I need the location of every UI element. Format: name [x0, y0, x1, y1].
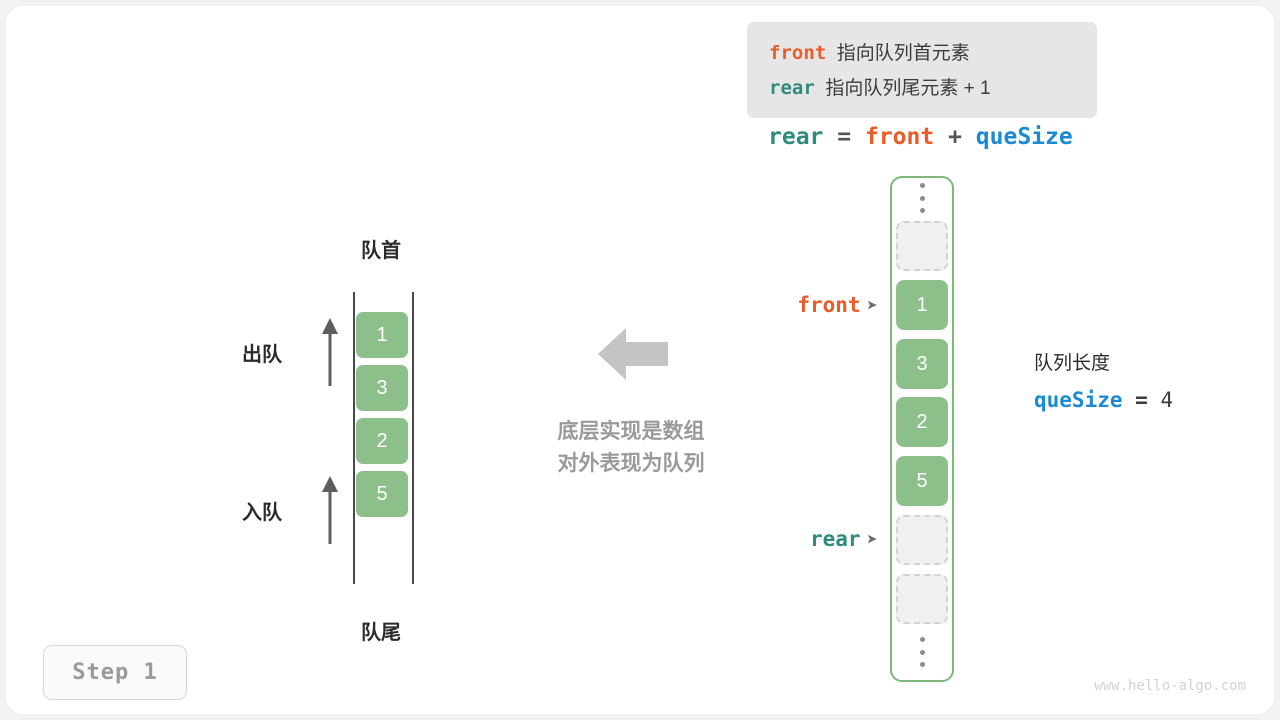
- formula-rear: rear: [768, 124, 823, 150]
- legend-rear-term: rear: [769, 77, 815, 99]
- queue-rail-right: [412, 292, 414, 584]
- page-background: front 指向队列首元素 rear 指向队列尾元素 + 1 rear = fr…: [0, 0, 1280, 720]
- array-slot-filled: 2: [896, 397, 948, 447]
- queue-cell: 1: [356, 312, 408, 358]
- legend-front-term: front: [769, 42, 826, 64]
- queue-cell: 3: [356, 365, 408, 411]
- legend-line-rear: rear 指向队列尾元素 + 1: [769, 71, 1097, 106]
- center-caption-line1: 底层实现是数组: [506, 416, 756, 448]
- array-slot-empty: [896, 221, 948, 271]
- pointer-legend-box: front 指向队列首元素 rear 指向队列尾元素 + 1: [747, 22, 1097, 118]
- rear-pointer: rear➤: [758, 527, 878, 551]
- enqueue-label: 入队: [202, 496, 282, 525]
- vertical-ellipsis-icon: [896, 637, 948, 667]
- vertical-ellipsis-icon: [896, 183, 948, 213]
- queue-size-equals: =: [1135, 388, 1148, 412]
- rear-formula: rear = front + queSize: [768, 124, 1098, 150]
- left-arrow-icon: [598, 326, 668, 382]
- rear-pointer-label: rear: [810, 527, 861, 551]
- formula-front: front: [865, 124, 934, 150]
- legend-line-front: front 指向队列首元素: [769, 36, 1097, 71]
- queue-size-info: 队列长度 queSize = 4: [1034, 346, 1264, 418]
- queue-head-label: 队首: [306, 234, 456, 263]
- step-badge: Step 1: [43, 645, 187, 700]
- array-slot-empty: [896, 515, 948, 565]
- legend-front-text: 指向队列首元素: [837, 43, 970, 64]
- queue-size-title: 队列长度: [1034, 346, 1264, 382]
- front-pointer-tip-icon: ➤: [867, 295, 878, 317]
- queue-tail-label: 队尾: [306, 616, 456, 645]
- queue-size-expression: queSize = 4: [1034, 382, 1264, 418]
- center-caption-line2: 对外表现为队列: [506, 448, 756, 480]
- front-pointer: front➤: [758, 293, 878, 317]
- queue-size-var: queSize: [1034, 388, 1123, 412]
- rear-pointer-tip-icon: ➤: [867, 529, 878, 551]
- watermark: www.hello-algo.com: [1006, 678, 1246, 694]
- formula-plus: +: [948, 124, 962, 150]
- array-slot-filled: 3: [896, 339, 948, 389]
- front-pointer-label: front: [797, 293, 860, 317]
- diagram-card: front 指向队列首元素 rear 指向队列尾元素 + 1 rear = fr…: [6, 6, 1274, 714]
- array-slot-empty: [896, 574, 948, 624]
- formula-quesize: queSize: [976, 124, 1073, 150]
- array-slot-filled: 1: [896, 280, 948, 330]
- queue-rail-left: [353, 292, 355, 584]
- dequeue-arrow-icon: [316, 316, 344, 386]
- queue-cell: 5: [356, 471, 408, 517]
- dequeue-label: 出队: [202, 338, 282, 367]
- queue-cell: 2: [356, 418, 408, 464]
- enqueue-arrow-icon: [316, 474, 344, 544]
- legend-rear-text: 指向队列尾元素 + 1: [825, 78, 990, 99]
- center-caption: 底层实现是数组 对外表现为队列: [506, 416, 756, 480]
- array-slot-filled: 5: [896, 456, 948, 506]
- queue-size-value: 4: [1160, 388, 1173, 412]
- formula-equals: =: [837, 124, 851, 150]
